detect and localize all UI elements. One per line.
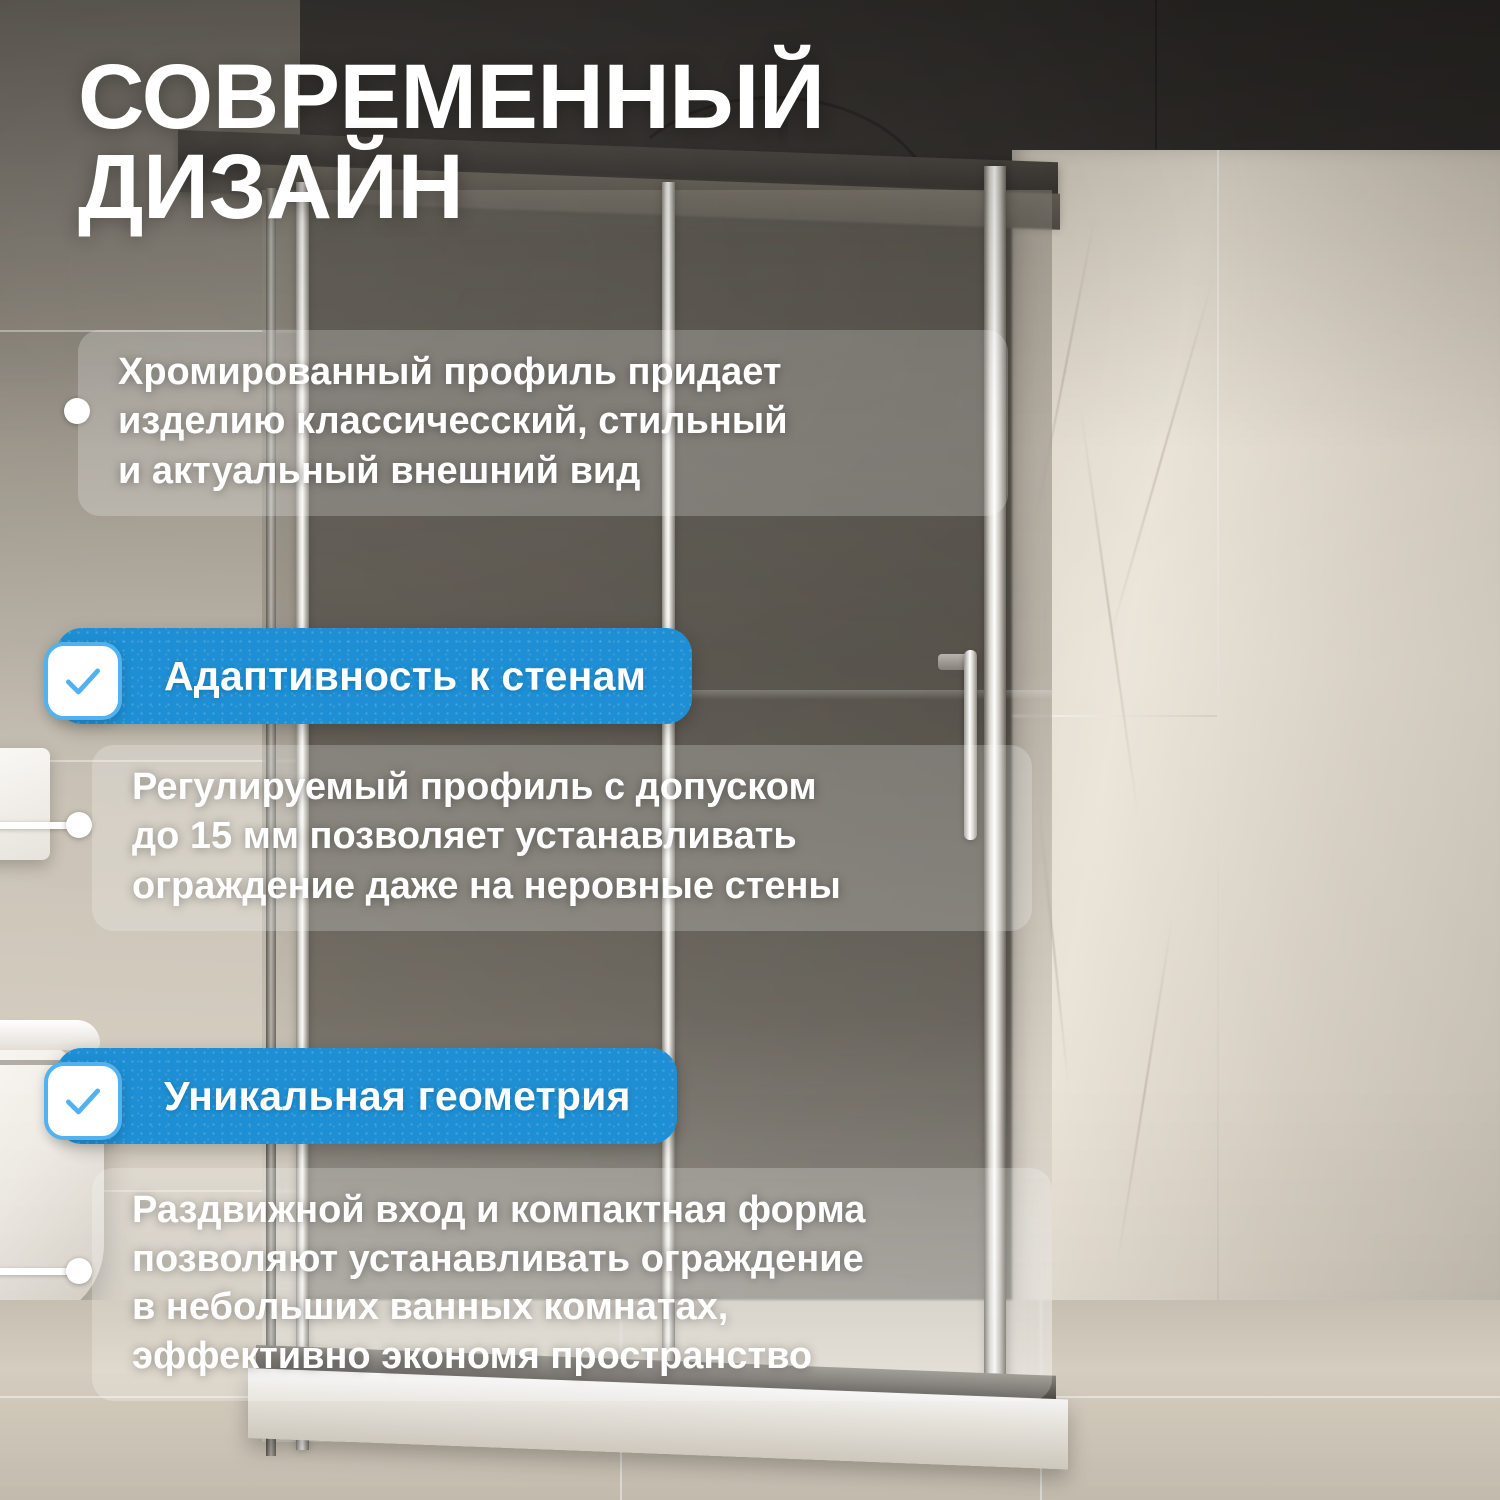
badge-label: Адаптивность к стенам bbox=[164, 653, 646, 700]
check-icon bbox=[44, 642, 122, 720]
badge-label: Уникальная геометрия bbox=[164, 1073, 631, 1120]
badge-adaptivity[interactable]: Адаптивность к стенам bbox=[56, 628, 692, 724]
feature-text-3: Раздвижной вход и компактная форма позво… bbox=[92, 1168, 1052, 1401]
feature-text-1: Хромированный профиль придает изделию кл… bbox=[78, 330, 1008, 516]
bullet-dot-icon bbox=[66, 1258, 92, 1284]
leader-line bbox=[0, 822, 72, 829]
overlay-content: СОВРЕМЕННЫЙ ДИЗАЙН Хромированный профиль… bbox=[0, 0, 1500, 1500]
bullet-dot-icon bbox=[66, 812, 92, 838]
feature-text-2: Регулируемый профиль с допуском до 15 мм… bbox=[92, 745, 1032, 931]
check-icon bbox=[44, 1062, 122, 1140]
page-title: СОВРЕМЕННЫЙ ДИЗАЙН bbox=[78, 52, 958, 232]
leader-line bbox=[0, 1268, 72, 1275]
promo-banner: СОВРЕМЕННЫЙ ДИЗАЙН Хромированный профиль… bbox=[0, 0, 1500, 1500]
badge-geometry[interactable]: Уникальная геометрия bbox=[56, 1048, 677, 1144]
